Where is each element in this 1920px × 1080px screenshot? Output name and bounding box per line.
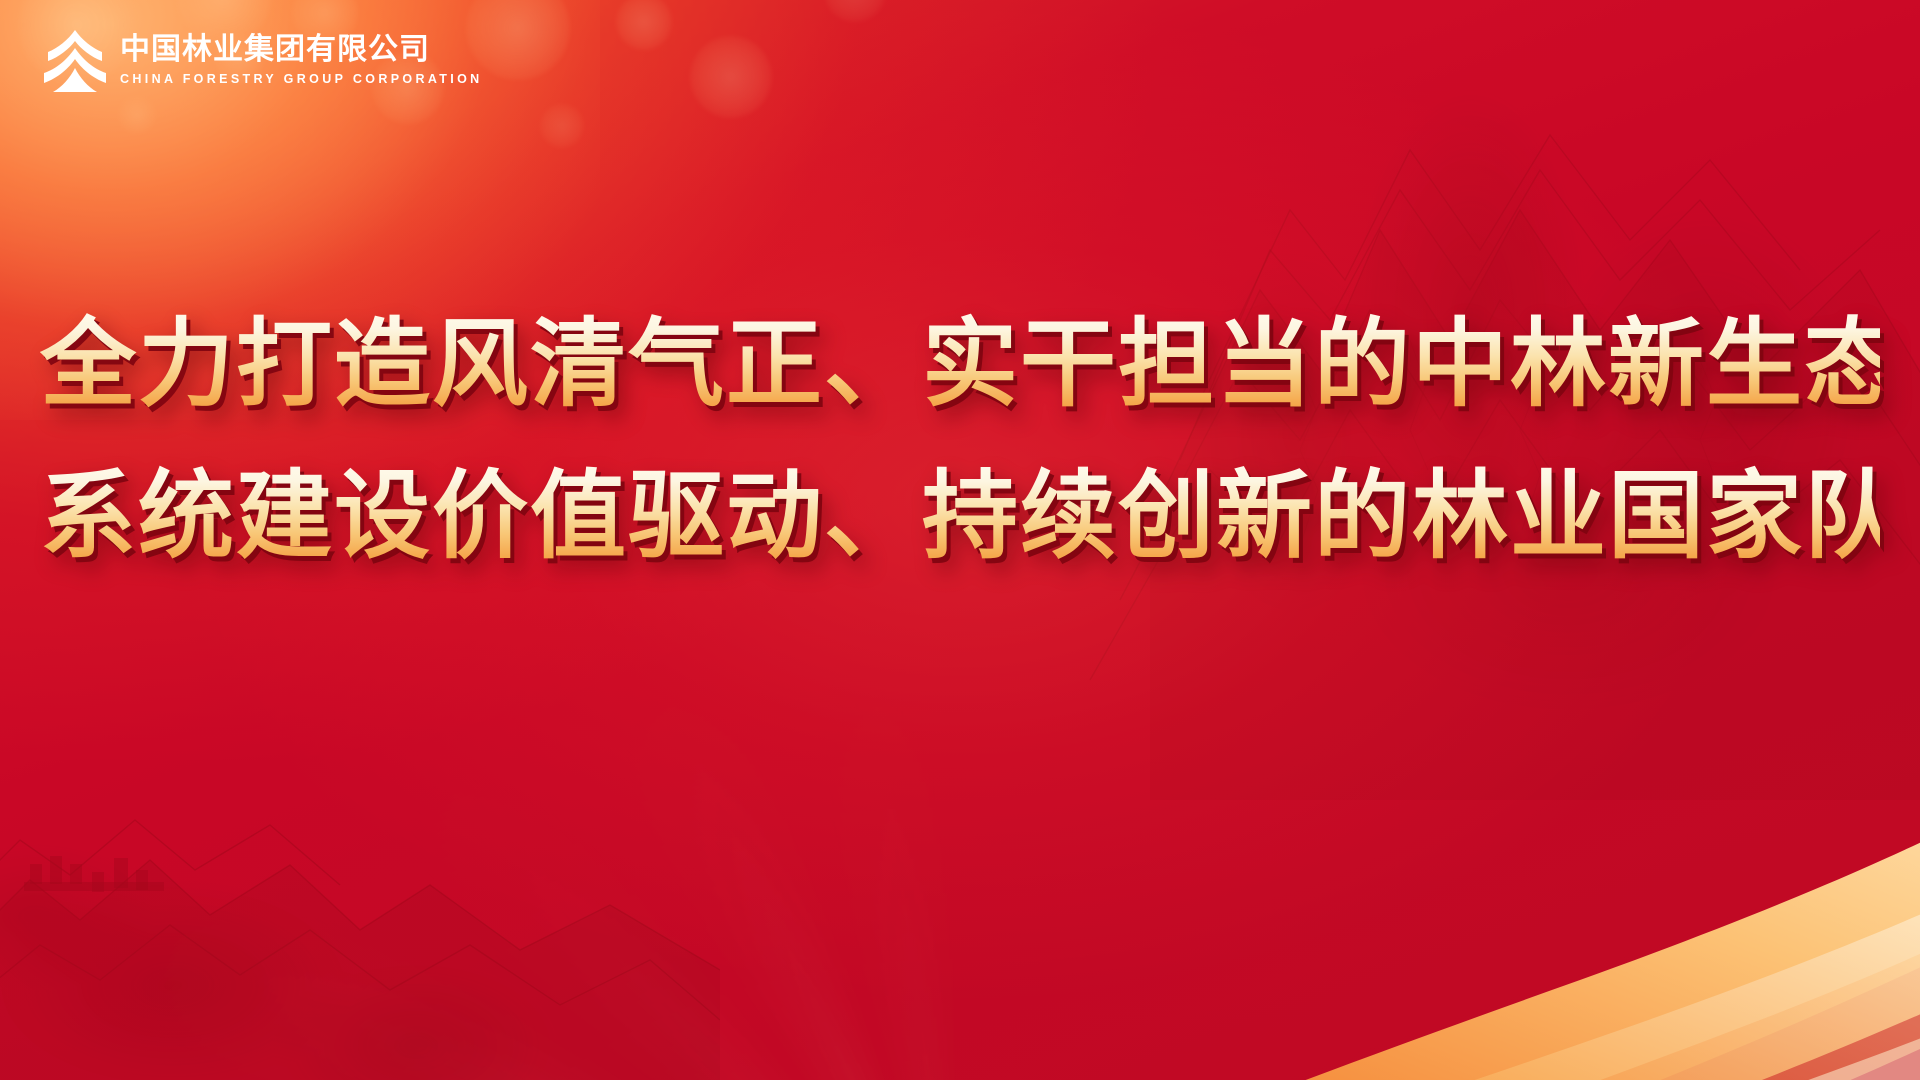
company-name-en: CHINA FORESTRY GROUP CORPORATION — [120, 72, 483, 86]
company-name-cn: 中国林业集团有限公司 — [120, 33, 483, 67]
headline-line-1: 全力打造风清气正、实干担当的中林新生态 — [40, 296, 1880, 432]
headline-block: 全力打造风清气正、实干担当的中林新生态 系统建设价值驱动、持续创新的林业国家队 — [0, 296, 1920, 585]
logo-lockup: 中国林业集团有限公司 CHINA FORESTRY GROUP CORPORAT… — [44, 28, 483, 94]
headline-line-2: 系统建设价值驱动、持续创新的林业国家队 — [40, 448, 1880, 584]
logo-text-block: 中国林业集团有限公司 CHINA FORESTRY GROUP CORPORAT… — [120, 28, 483, 86]
china-forestry-group-tree-mark-icon — [44, 28, 106, 94]
banner-canvas: 中国林业集团有限公司 CHINA FORESTRY GROUP CORPORAT… — [0, 0, 1920, 1080]
